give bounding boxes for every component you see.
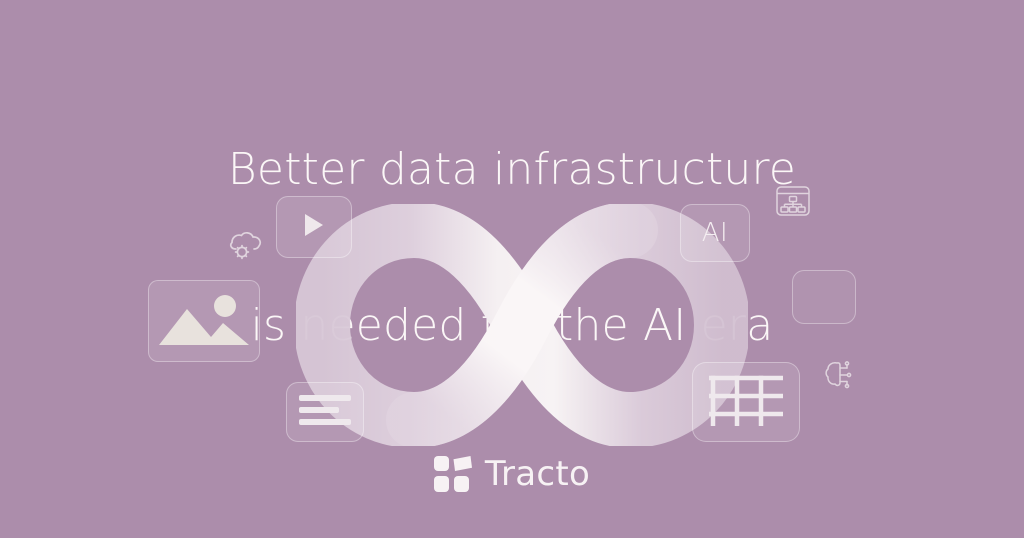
headline-line-1: Better data infrastructure [0, 144, 1024, 196]
play-icon [301, 211, 327, 244]
card-ai[interactable]: AI [680, 204, 750, 262]
card-image[interactable] [148, 280, 260, 362]
brand-logo[interactable]: Tracto [0, 456, 1024, 492]
card-video[interactable] [276, 196, 352, 258]
text-lines-icon [299, 393, 351, 432]
card-text-lines[interactable] [286, 382, 364, 442]
table-grid-icon [709, 374, 783, 431]
brand-name: Tracto [485, 457, 590, 491]
brain-circuit-icon [822, 358, 856, 392]
sitemap-window-icon [774, 184, 812, 218]
card-ai-label: AI [702, 220, 728, 246]
card-binary[interactable] [792, 270, 856, 324]
promo-banner: Better data infrastructure is needed for… [0, 0, 1024, 538]
tracto-grid-mark-icon [434, 456, 472, 492]
card-table[interactable] [692, 362, 800, 442]
image-icon [157, 287, 251, 356]
cloud-gear-icon [228, 228, 266, 260]
